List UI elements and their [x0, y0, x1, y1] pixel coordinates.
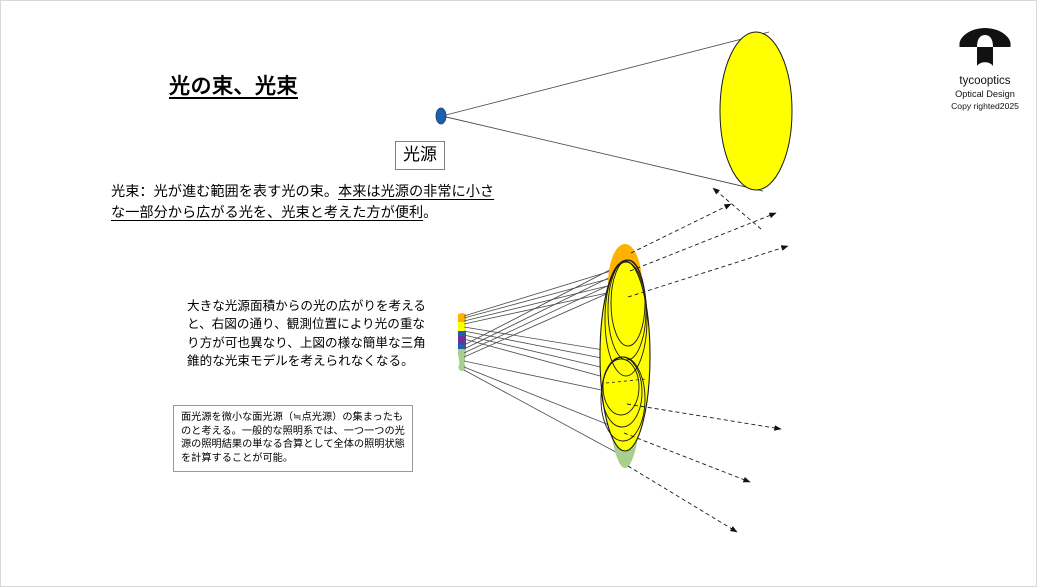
mushroom-mark: [956, 25, 1014, 71]
lead-plain: 光束：光が進む範囲を表す光の束。: [111, 184, 338, 200]
logo-subtitle: Optical Design: [939, 88, 1031, 100]
body-paragraph: 大きな光源面積からの光の広がりを考えると、右図の通り、観測位置により光の重なり方…: [187, 297, 437, 371]
logo-copyright: Copy righted2025: [939, 100, 1031, 112]
observation-direction-arrows: [624, 204, 788, 532]
dashed-observation-arrow-up: [713, 188, 761, 229]
overlapping-beams-ellipse: [600, 244, 650, 468]
lead-paragraph: 光束：光が進む範囲を表す光の束。本来は光源の非常に小さ な一部分から広がる光を、…: [111, 182, 611, 224]
point-light-source: [436, 108, 446, 124]
upper-beam-cone: [442, 32, 769, 191]
lead-underline-2: な一部分から広がる光を、光束と考えた方が便利: [111, 205, 423, 221]
slide-canvas: 光の束、光束 光束：光が進む範囲を表す光の束。本来は光源の非常に小さ な一部分か…: [0, 0, 1037, 587]
page-title: 光の束、光束: [169, 70, 298, 100]
light-source-label-box: 光源: [395, 141, 445, 170]
note-callout-box: 面光源を微小な面光源（≒点光源）の集まったものと考える。一般的な照明系では、一つ…: [173, 405, 413, 472]
lead-tail: 。: [423, 205, 437, 221]
beam-cross-section-ellipse: [720, 32, 792, 190]
brand-logo: tycooptics Optical Design Copy righted20…: [939, 25, 1031, 112]
extended-area-source: [458, 313, 466, 371]
optics-diagram: [1, 1, 1037, 587]
ray-bundle: [464, 256, 637, 456]
lead-underline-1: 本来は光源の非常に小さ: [338, 184, 494, 200]
logo-brand-name: tycooptics: [939, 74, 1031, 88]
